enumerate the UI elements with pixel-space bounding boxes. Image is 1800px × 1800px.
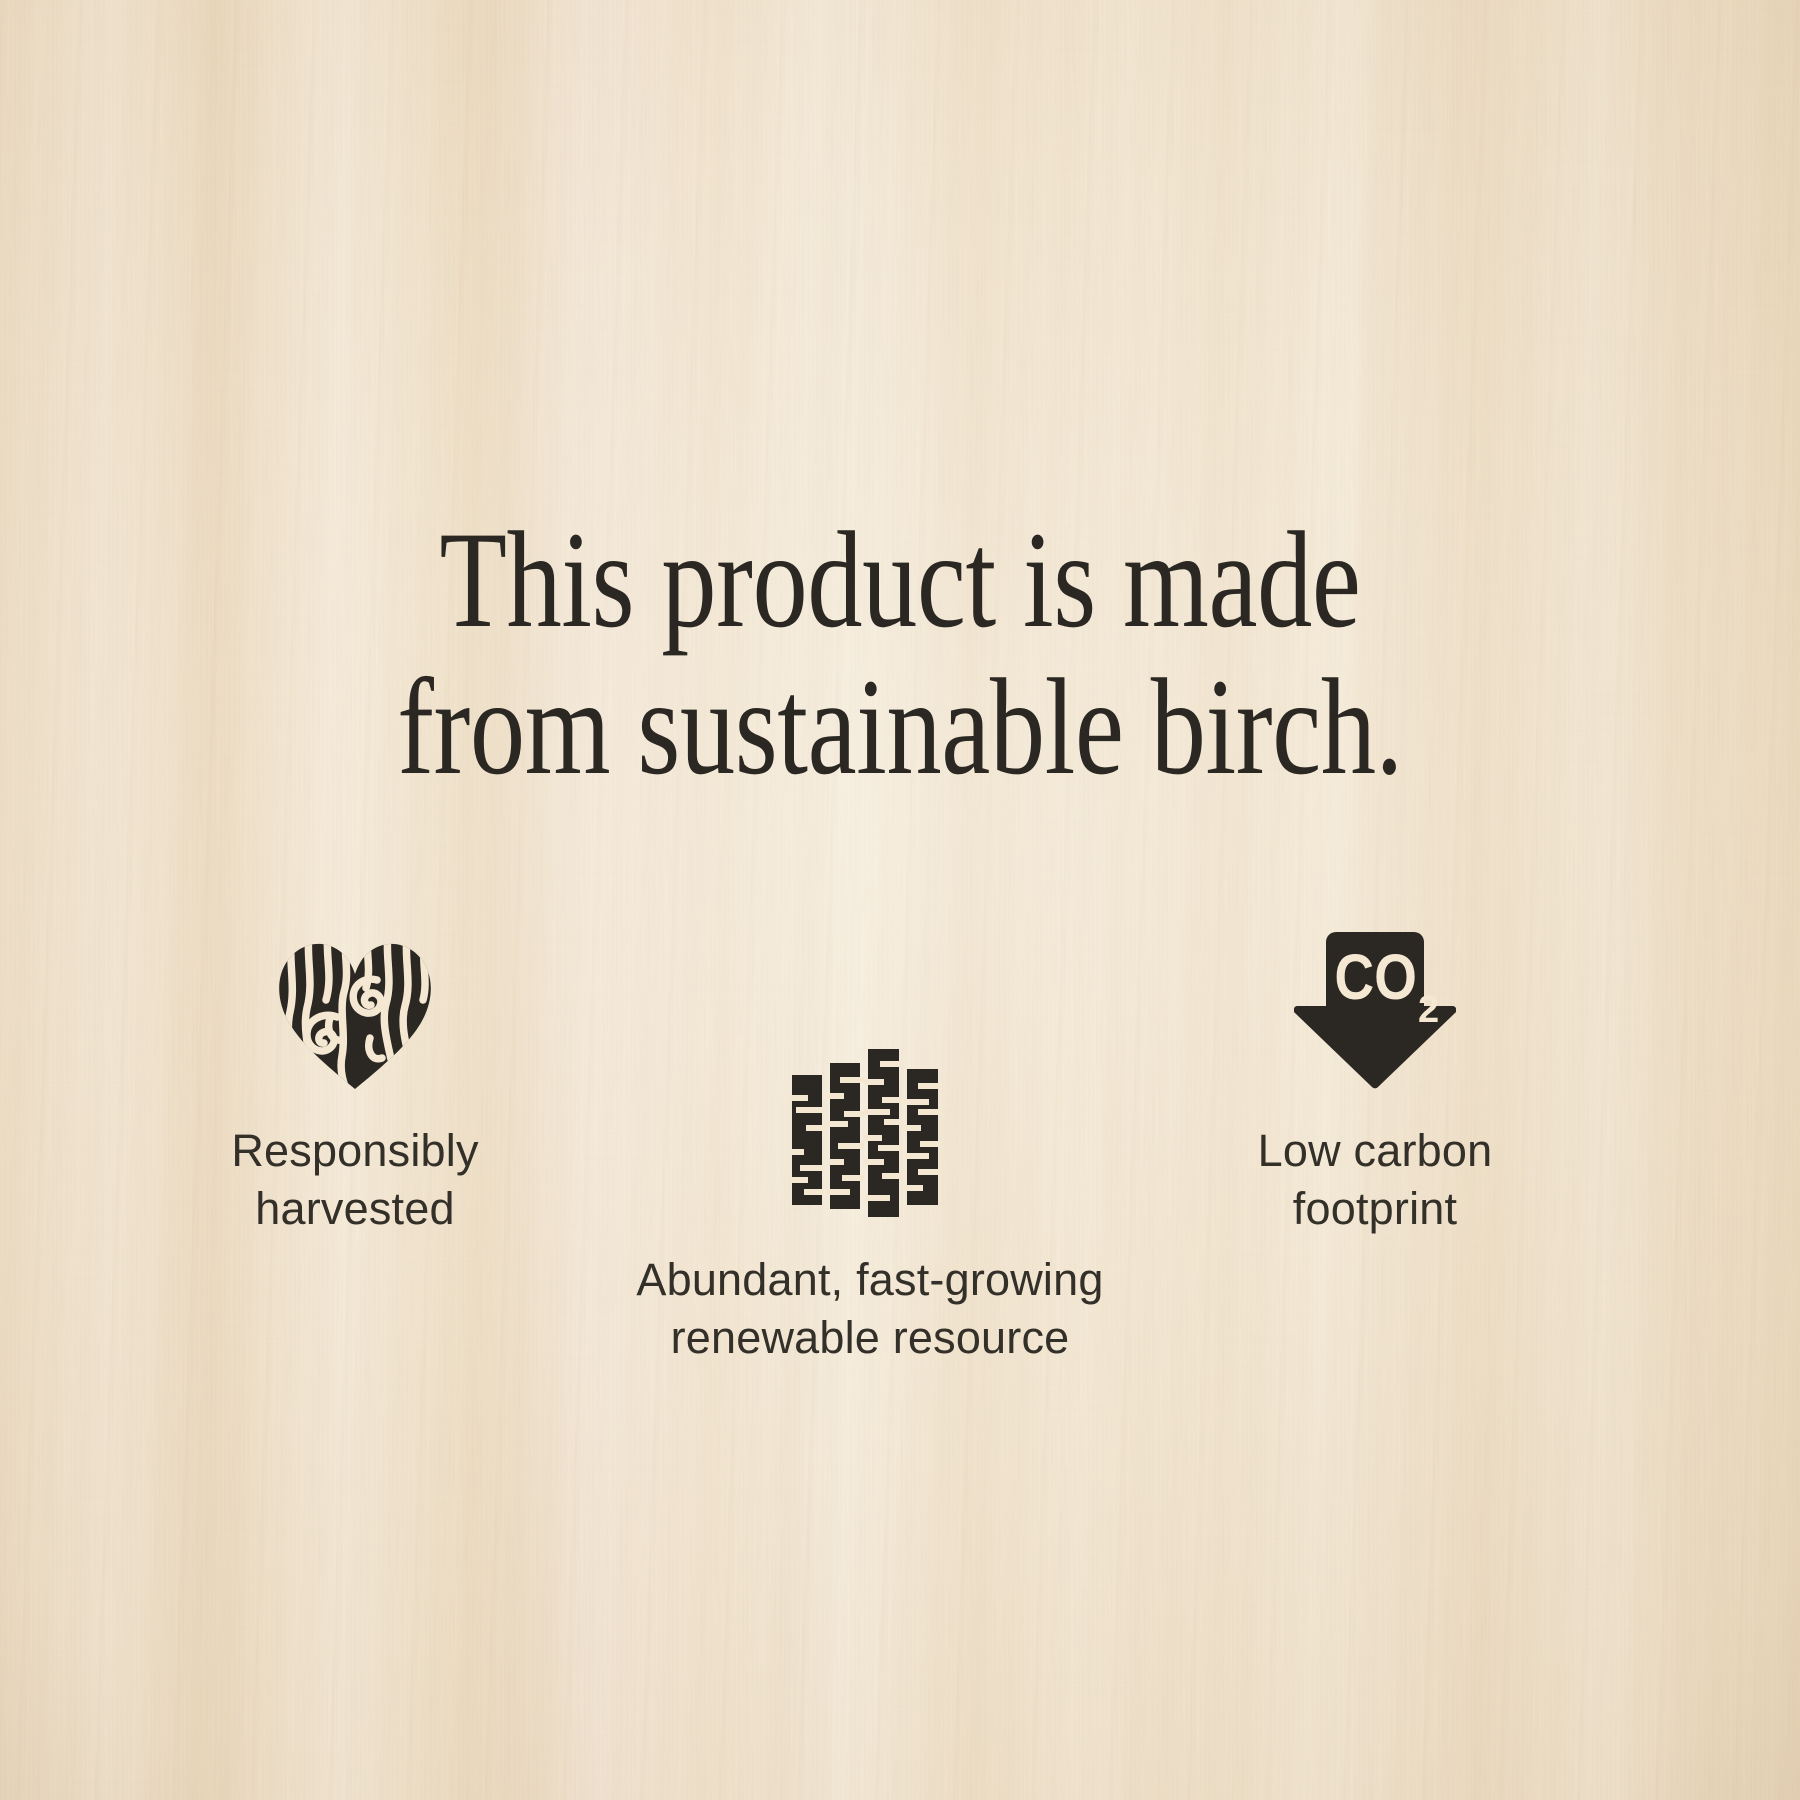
wood-grain-heart-icon: [276, 938, 434, 1090]
co2-label-subscript: 2: [1418, 989, 1439, 1031]
feature-renewable-resource: Abundant, fast-growing renewable resourc…: [625, 1052, 1115, 1366]
feature-icon-container: [625, 1052, 1115, 1217]
caption-line-1: Low carbon: [1175, 1122, 1575, 1180]
feature-caption: Abundant, fast-growing renewable resourc…: [625, 1251, 1115, 1366]
birch-trees-icon: [786, 1049, 954, 1217]
page-title: This product is made from sustainable bi…: [180, 507, 1620, 800]
co2-label-main: CO: [1334, 941, 1417, 1013]
caption-line-2: harvested: [165, 1180, 545, 1238]
caption-line-2: footprint: [1175, 1180, 1575, 1238]
caption-line-2: renewable resource: [625, 1309, 1115, 1367]
sustainability-panel: This product is made from sustainable bi…: [0, 0, 1800, 1800]
feature-caption: Low carbon footprint: [1175, 1122, 1575, 1237]
feature-icon-container: [165, 930, 545, 1090]
headline-line-2: from sustainable birch.: [180, 654, 1620, 800]
feature-responsibly-harvested: Responsibly harvested: [165, 930, 545, 1237]
feature-icon-container: CO 2: [1175, 930, 1575, 1090]
feature-low-carbon-footprint: CO 2 Low carbon footprint: [1175, 930, 1575, 1237]
feature-caption: Responsibly harvested: [165, 1122, 545, 1237]
co2-down-arrow-icon: CO 2: [1294, 932, 1456, 1090]
caption-line-1: Abundant, fast-growing: [625, 1251, 1115, 1309]
headline-line-1: This product is made: [180, 507, 1620, 653]
caption-line-1: Responsibly: [165, 1122, 545, 1180]
panel-content: This product is made from sustainable bi…: [0, 0, 1800, 1800]
